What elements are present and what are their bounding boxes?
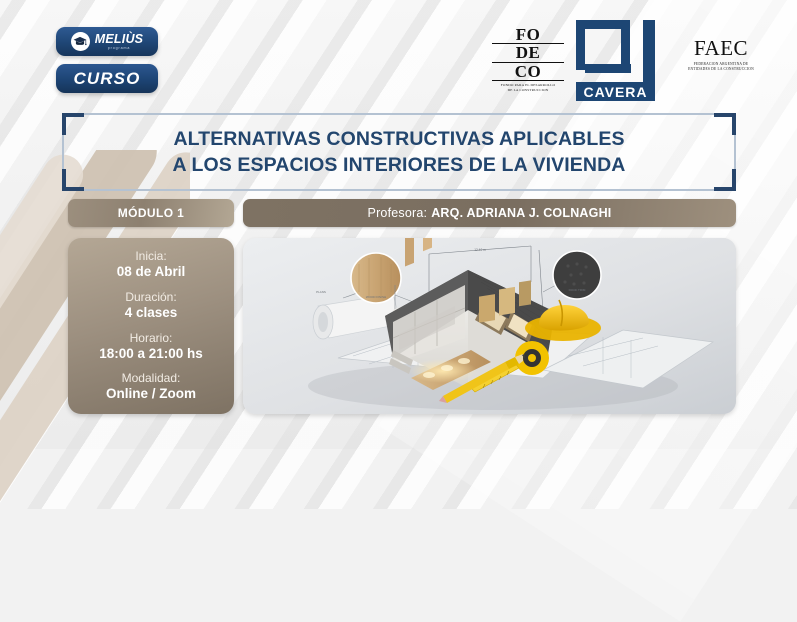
info-label-horario: Horario: [99, 331, 203, 346]
module-label: MÓDULO 1 [118, 206, 185, 220]
info-label-inicia: Inicia: [117, 249, 186, 264]
melius-logo: MELIÙS programa [56, 27, 158, 56]
house-render-illustration: WOOD FINISH ROOF TRIM PLANS 12.40 m 5.10 [243, 238, 736, 414]
graduation-cap-icon [71, 32, 90, 51]
info-item-modalidad: Modalidad: Online / Zoom [106, 371, 196, 403]
teacher-name: ARQ. ADRIANA J. COLNAGHI [431, 206, 611, 220]
info-value-duracion: 4 clases [125, 305, 178, 322]
teacher-prefix: Profesora: [368, 206, 428, 220]
module-badge: MÓDULO 1 [68, 199, 234, 227]
info-label-duracion: Duración: [125, 290, 178, 305]
fodeco-line-1: FO [492, 26, 564, 44]
svg-text:12.40 m: 12.40 m [474, 248, 486, 252]
cavera-wordmark: CAVERA [576, 82, 655, 101]
cavera-logo: CAVERA [576, 20, 655, 101]
svg-text:PLANS: PLANS [316, 290, 326, 294]
fodeco-subtitle-1: FONDO PARA EL DESARROLLO [492, 83, 564, 88]
melius-logo-stack: MELIÙS programa CURSO [56, 27, 158, 93]
info-item-inicia: Inicia: 08 de Abril [117, 249, 186, 281]
faec-wordmark: FAEC [675, 38, 767, 59]
info-item-horario: Horario: 18:00 a 21:00 hs [99, 331, 203, 363]
info-value-inicia: 08 de Abril [117, 264, 186, 281]
page-title: ALTERNATIVAS CONSTRUCTIVAS APLICABLES A … [62, 113, 736, 191]
svg-text:WOOD FINISH: WOOD FINISH [366, 295, 386, 299]
page-title-line-1: ALTERNATIVAS CONSTRUCTIVAS APLICABLES [173, 128, 624, 151]
melius-subtitle: programa [108, 47, 131, 51]
svg-text:ROOF TRIM: ROOF TRIM [569, 288, 586, 292]
teacher-bar: Profesora: ARQ. ADRIANA J. COLNAGHI [243, 199, 736, 227]
page-title-line-2: A LOS ESPACIOS INTERIORES DE LA VIVIENDA [173, 154, 626, 177]
title-frame: ALTERNATIVAS CONSTRUCTIVAS APLICABLES A … [62, 113, 736, 191]
curso-label: CURSO [74, 69, 141, 89]
faec-logo: FAEC FEDERACION ARGENTINA DE ENTIDADES D… [675, 38, 767, 72]
fodeco-subtitle-2: DE LA CONSTRUCCION [492, 88, 564, 93]
info-value-horario: 18:00 a 21:00 hs [99, 346, 203, 363]
info-label-modalidad: Modalidad: [106, 371, 196, 386]
faec-subtitle-2: ENTIDADES DE LA CONSTRUCCION [675, 67, 767, 72]
info-item-duracion: Duración: 4 clases [125, 290, 178, 322]
course-info-panel: Inicia: 08 de Abril Duración: 4 clases H… [68, 238, 234, 414]
info-value-modalidad: Online / Zoom [106, 386, 196, 403]
curso-badge: CURSO [56, 64, 158, 93]
melius-wordmark: MELIÙS [95, 33, 143, 46]
cavera-square-bracket-icon [576, 20, 655, 82]
fodeco-logo: FO DE CO FONDO PARA EL DESARROLLO DE LA … [492, 26, 564, 92]
fodeco-line-3: CO [492, 63, 564, 81]
hero-image: WOOD FINISH ROOF TRIM PLANS 12.40 m 5.10 [243, 238, 736, 414]
fodeco-line-2: DE [492, 44, 564, 62]
